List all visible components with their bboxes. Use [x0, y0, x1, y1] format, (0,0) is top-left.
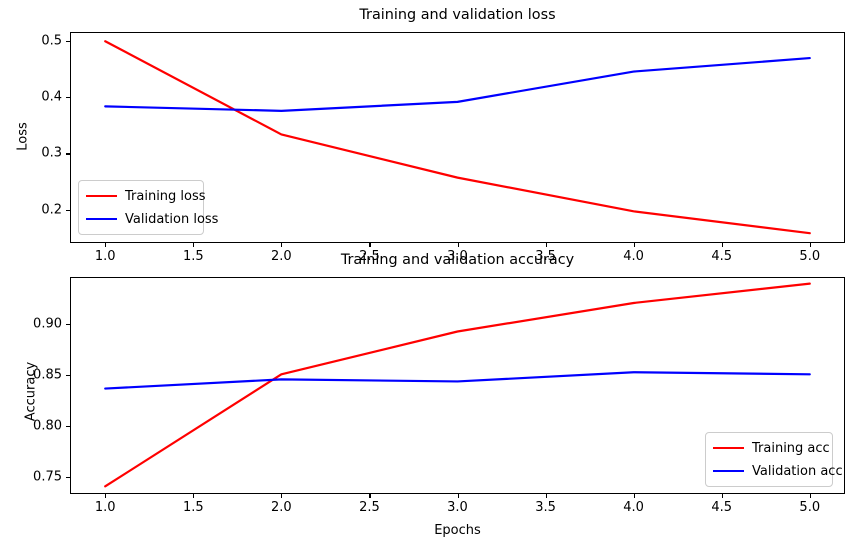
- accuracy-x-axis-label: Epochs: [70, 524, 845, 537]
- x-tick-mark: [546, 494, 547, 498]
- x-tick-mark: [281, 494, 282, 498]
- x-tick-label: 4.5: [711, 501, 732, 514]
- x-tick-mark: [722, 494, 723, 498]
- accuracy-panel: Training and validation accuracy Accurac…: [0, 0, 855, 547]
- x-tick-mark: [810, 494, 811, 498]
- x-tick-mark: [634, 494, 635, 498]
- y-tick-mark: [66, 324, 70, 325]
- x-tick-label: 5.0: [799, 501, 820, 514]
- x-tick-label: 1.5: [183, 501, 204, 514]
- legend-label-training-acc: Training acc: [752, 442, 830, 455]
- y-tick-label: 0.75: [6, 471, 62, 484]
- y-tick-label: 0.80: [6, 420, 62, 433]
- x-tick-mark: [369, 494, 370, 498]
- x-tick-mark: [193, 494, 194, 498]
- matplotlib-figure: Training and validation loss Loss 0.20.3…: [0, 0, 855, 547]
- y-tick-label: 0.90: [6, 318, 62, 331]
- y-tick-mark: [66, 477, 70, 478]
- series-line: [105, 372, 810, 388]
- accuracy-legend[interactable]: Training acc Validation acc: [705, 432, 833, 487]
- y-tick-label: 0.85: [6, 369, 62, 382]
- x-tick-label: 4.0: [623, 501, 644, 514]
- x-tick-label: 2.0: [271, 501, 292, 514]
- x-tick-label: 3.5: [535, 501, 556, 514]
- x-tick-label: 1.0: [95, 501, 116, 514]
- x-tick-label: 3.0: [447, 501, 468, 514]
- legend-swatch-training-acc: [713, 447, 744, 450]
- y-tick-mark: [66, 375, 70, 376]
- legend-item-training-acc: Training acc: [713, 440, 825, 457]
- legend-swatch-validation-acc: [713, 470, 744, 473]
- y-tick-mark: [66, 426, 70, 427]
- x-tick-mark: [105, 494, 106, 498]
- legend-label-validation-acc: Validation acc: [752, 465, 843, 478]
- x-tick-label: 2.5: [359, 501, 380, 514]
- x-tick-mark: [458, 494, 459, 498]
- legend-item-validation-acc: Validation acc: [713, 463, 825, 480]
